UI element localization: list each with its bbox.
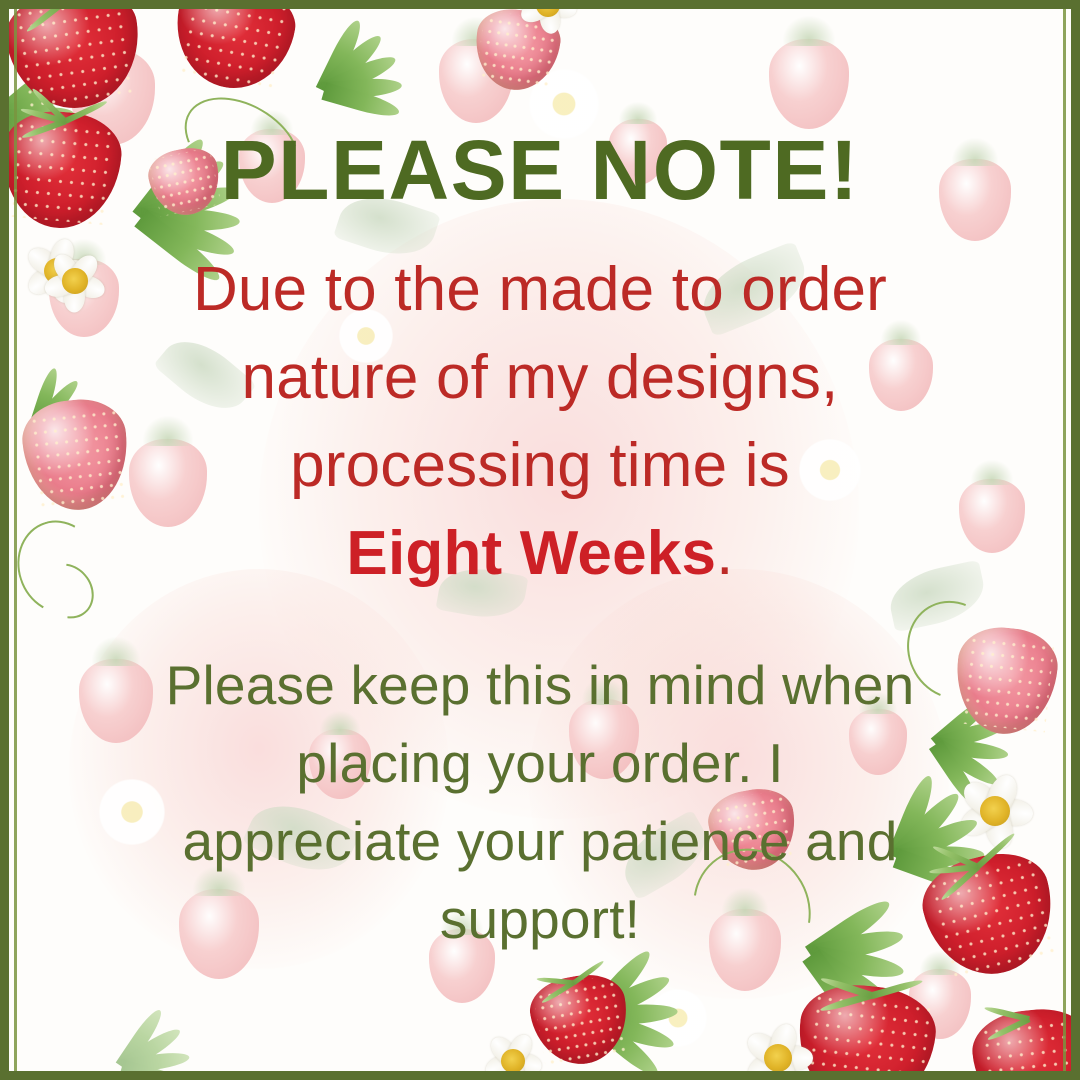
- closing-line-2: placing your order. I: [0, 724, 1080, 802]
- frame-inner-rule-right: [1063, 9, 1066, 1071]
- announcement-poster: PLEASE NOTE! Due to the made to order na…: [0, 0, 1080, 1080]
- frame-inner-rule-left: [14, 9, 17, 1071]
- poster-text-block: PLEASE NOTE! Due to the made to order na…: [0, 0, 1080, 959]
- closing-paragraph: Please keep this in mind when placing yo…: [0, 598, 1080, 958]
- processing-time-value: Eight Weeks: [346, 519, 716, 588]
- frame-border-right: [1071, 0, 1080, 1080]
- closing-line-3: appreciate your patience and: [0, 802, 1080, 880]
- notice-line-2: nature of my designs,: [0, 334, 1080, 422]
- frame-border-bottom: [0, 1071, 1080, 1080]
- closing-line-4: support!: [0, 880, 1080, 958]
- frame-border-top: [0, 0, 1080, 9]
- closing-line-1: Please keep this in mind when: [0, 646, 1080, 724]
- notice-line-3: processing time is: [0, 422, 1080, 510]
- page-title: PLEASE NOTE!: [0, 0, 1080, 212]
- notice-line-1: Due to the made to order: [0, 246, 1080, 334]
- notice-period: .: [716, 519, 733, 588]
- notice-paragraph: Due to the made to order nature of my de…: [0, 212, 1080, 598]
- notice-emphasis-line: Eight Weeks.: [0, 510, 1080, 598]
- frame-border-left: [0, 0, 9, 1080]
